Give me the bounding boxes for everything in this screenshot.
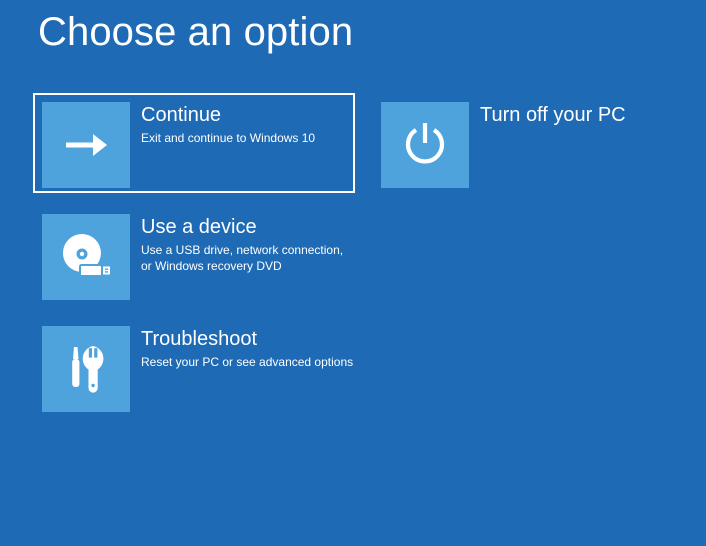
option-troubleshoot[interactable]: Troubleshoot Reset your PC or see advanc… [33, 317, 355, 417]
option-troubleshoot-subtitle: Reset your PC or see advanced options [141, 355, 346, 371]
option-use-a-device-subtitle: Use a USB drive, network connection, or … [141, 243, 346, 274]
option-turn-off-your-pc-tile [381, 102, 469, 188]
disc-usb-icon [60, 232, 112, 282]
power-icon [401, 120, 449, 170]
option-troubleshoot-title: Troubleshoot [141, 327, 346, 352]
option-continue-title: Continue [141, 103, 346, 128]
option-continue-tile [42, 102, 130, 188]
page-title: Choose an option [38, 8, 353, 56]
screwdriver-wrench-icon [63, 343, 109, 395]
option-turn-off-your-pc-text: Turn off your PC [469, 102, 626, 128]
option-continue-text: Continue Exit and continue to Windows 10 [130, 102, 346, 147]
option-continue[interactable]: Continue Exit and continue to Windows 10 [33, 93, 355, 193]
options-list: Continue Exit and continue to Windows 10 [33, 93, 355, 429]
option-use-a-device-tile [42, 214, 130, 300]
option-continue-subtitle: Exit and continue to Windows 10 [141, 131, 346, 147]
option-use-a-device-text: Use a device Use a USB drive, network co… [130, 214, 346, 274]
option-troubleshoot-text: Troubleshoot Reset your PC or see advanc… [130, 326, 346, 371]
option-turn-off-your-pc-title: Turn off your PC [480, 103, 626, 128]
option-troubleshoot-tile [42, 326, 130, 412]
recovery-screen: Choose an option Continue Exit and conti… [0, 0, 706, 546]
option-use-a-device[interactable]: Use a device Use a USB drive, network co… [33, 205, 355, 305]
option-use-a-device-title: Use a device [141, 215, 346, 240]
option-turn-off-your-pc[interactable]: Turn off your PC [372, 93, 682, 193]
arrow-right-icon [61, 125, 111, 165]
